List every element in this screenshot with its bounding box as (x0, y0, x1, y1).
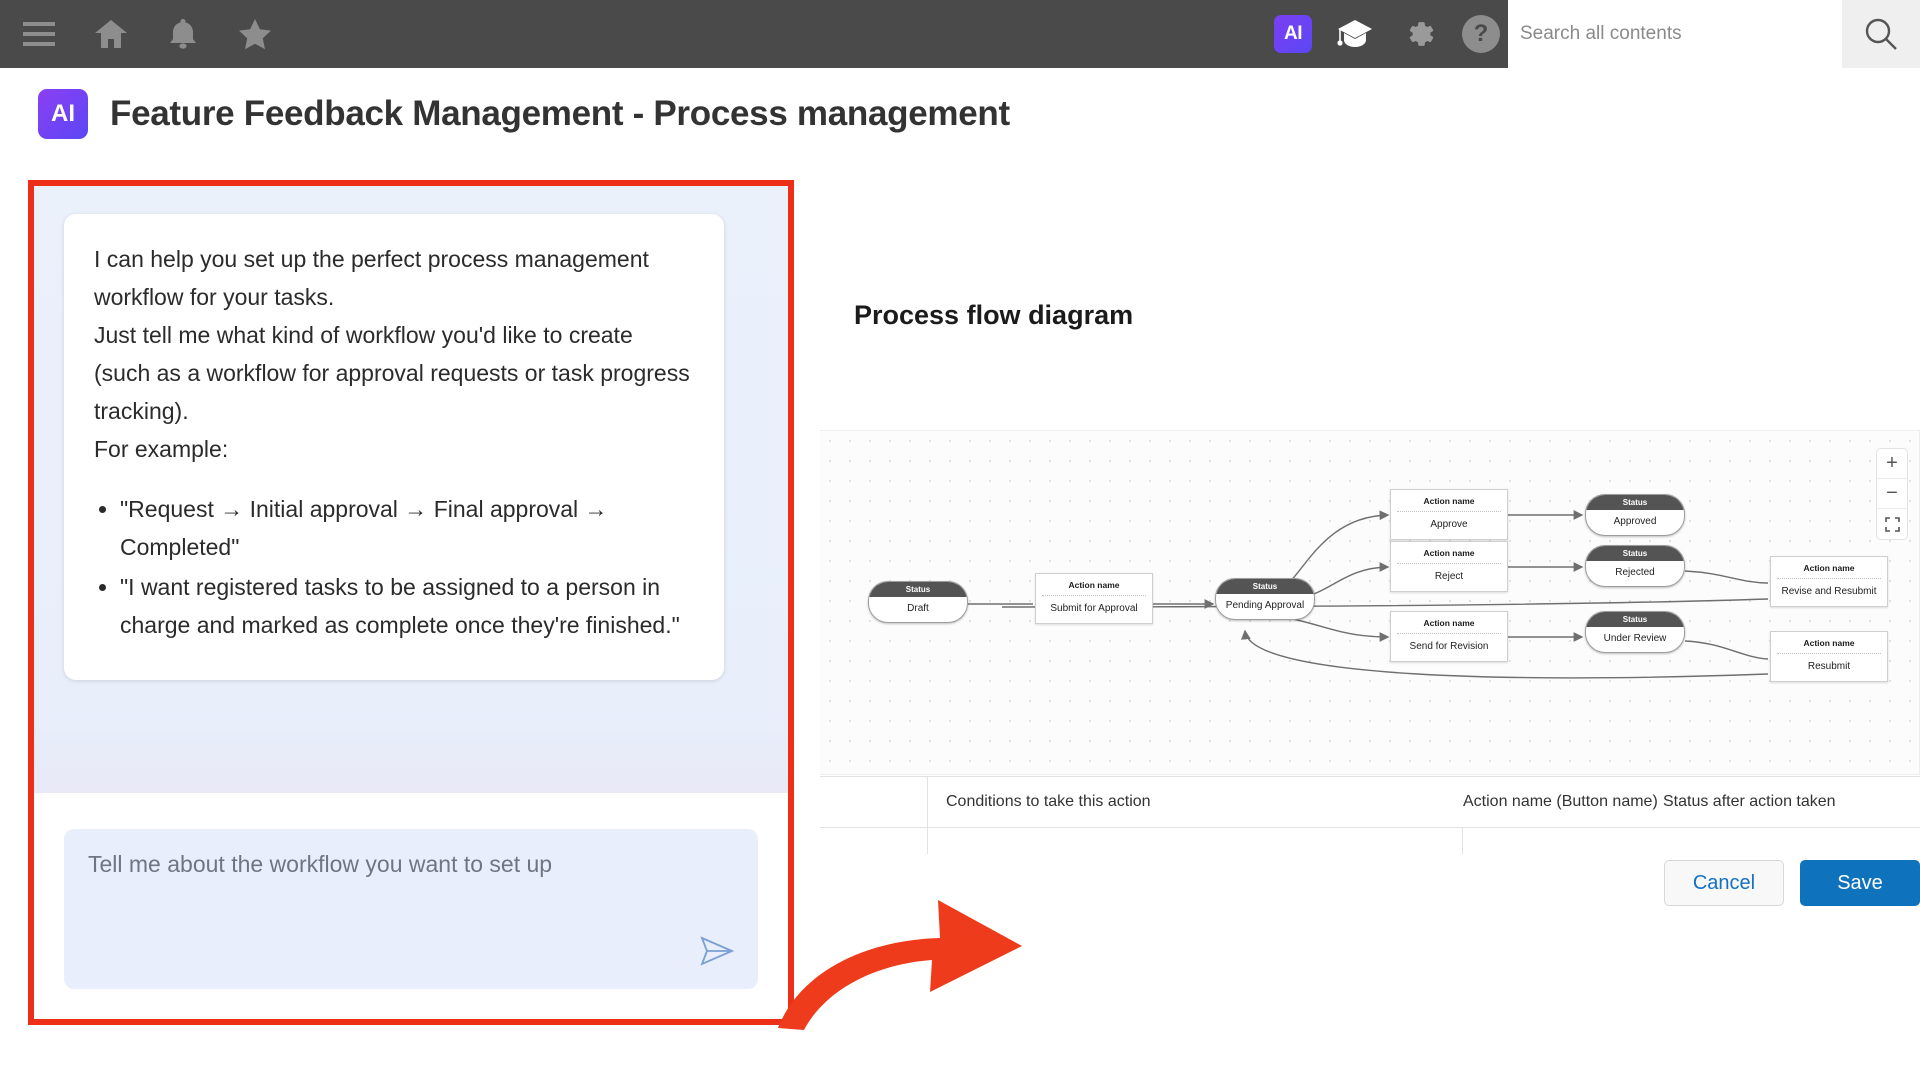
chat-input-box[interactable]: Tell me about the workflow you want to s… (64, 829, 758, 989)
table-cell-conditions (928, 828, 1463, 854)
node-header: Action name (1397, 542, 1501, 564)
page-title: Feature Feedback Management - Process ma… (110, 94, 1010, 134)
gear-icon[interactable] (1398, 13, 1440, 55)
node-label: Rejected (1586, 561, 1684, 586)
annotation-arrow-icon (770, 880, 1030, 1035)
diagram-title: Process flow diagram (854, 300, 1920, 331)
assistant-message-bubble: I can help you set up the perfect proces… (64, 214, 724, 680)
ai-chat-panel: I can help you set up the perfect proces… (28, 180, 794, 1025)
graduation-cap-icon[interactable] (1334, 13, 1376, 55)
star-icon[interactable] (234, 13, 276, 55)
message-paragraph-2: Just tell me what kind of workflow you'd… (94, 316, 694, 430)
status-node-pending-approval[interactable]: Status Pending Approval (1215, 578, 1315, 620)
node-header: Status (1216, 579, 1314, 594)
search-input[interactable] (1520, 23, 1830, 45)
table-col-conditions: Conditions to take this action (928, 793, 1463, 811)
list-item: "Request → Initial approval → Final appr… (120, 490, 694, 566)
table-header-row: Conditions to take this action Action na… (820, 776, 1920, 828)
node-label: Resubmit (1771, 654, 1887, 681)
node-label: Draft (869, 597, 967, 622)
message-example-list: "Request → Initial approval → Final appr… (120, 490, 694, 644)
top-navigation-bar: AI ? (0, 0, 1920, 68)
page-ai-badge-icon: AI (38, 89, 88, 139)
node-label: Revise and Resubmit (1771, 579, 1887, 606)
flow-connector-lines (820, 431, 1920, 775)
home-icon[interactable] (90, 13, 132, 55)
node-label: Approved (1586, 510, 1684, 535)
node-label: Reject (1391, 564, 1507, 591)
cancel-button[interactable]: Cancel (1664, 860, 1784, 906)
topbar-right-icons: AI ? (1274, 13, 1508, 55)
canvas-zoom-controls: + − (1877, 449, 1907, 539)
message-paragraph-1: I can help you set up the perfect proces… (94, 240, 694, 316)
action-node-reject[interactable]: Action name Reject (1390, 541, 1508, 592)
status-node-rejected[interactable]: Status Rejected (1585, 545, 1685, 587)
node-header: Status (1586, 546, 1684, 561)
process-flow-canvas[interactable]: Status Draft Action name Submit for Appr… (820, 430, 1920, 775)
table-col-status-after: Status after action taken (1663, 793, 1920, 811)
node-label: Submit for Approval (1036, 596, 1152, 623)
send-paper-plane-icon[interactable] (700, 936, 734, 971)
node-header: Action name (1397, 612, 1501, 634)
table-row[interactable] (820, 828, 1920, 854)
status-node-under-review[interactable]: Status Under Review (1585, 611, 1685, 653)
action-conditions-table: Conditions to take this action Action na… (820, 776, 1920, 854)
list-item: "I want registered tasks to be assigned … (120, 568, 694, 644)
node-label: Send for Revision (1391, 634, 1507, 661)
node-header: Status (1586, 612, 1684, 627)
node-header: Action name (1777, 632, 1881, 654)
table-cell-rest (1463, 828, 1920, 854)
bell-icon[interactable] (162, 13, 204, 55)
zoom-out-button[interactable]: − (1877, 479, 1907, 509)
page-header: AI Feature Feedback Management - Process… (0, 68, 1920, 160)
action-node-revise-and-resubmit[interactable]: Action name Revise and Resubmit (1770, 556, 1888, 607)
node-header: Status (869, 582, 967, 597)
table-col-action-name: Action name (Button name) (1463, 793, 1663, 811)
search-button[interactable] (1842, 0, 1920, 68)
node-header: Status (1586, 495, 1684, 510)
table-col-blank (820, 776, 928, 828)
node-header: Action name (1397, 490, 1501, 512)
page-badge-label: AI (51, 100, 75, 128)
action-node-submit-for-approval[interactable]: Action name Submit for Approval (1035, 573, 1153, 624)
topbar-left-icons (0, 13, 276, 55)
chat-message-area: I can help you set up the perfect proces… (34, 186, 788, 793)
search-container[interactable] (1508, 0, 1842, 68)
hamburger-menu-icon[interactable] (18, 13, 60, 55)
save-button[interactable]: Save (1800, 860, 1920, 906)
help-label: ? (1474, 20, 1489, 48)
status-node-approved[interactable]: Status Approved (1585, 494, 1685, 536)
search-icon (1864, 17, 1898, 51)
status-node-draft[interactable]: Status Draft (868, 581, 968, 623)
action-node-resubmit[interactable]: Action name Resubmit (1770, 631, 1888, 682)
node-label: Approve (1391, 512, 1507, 539)
action-node-send-for-revision[interactable]: Action name Send for Revision (1390, 611, 1508, 662)
action-node-approve[interactable]: Action name Approve (1390, 489, 1508, 540)
node-label: Pending Approval (1216, 594, 1314, 619)
node-header: Action name (1777, 557, 1881, 579)
help-icon[interactable]: ? (1462, 15, 1500, 53)
node-header: Action name (1042, 574, 1146, 596)
fit-screen-icon[interactable] (1877, 509, 1907, 539)
chat-input-area: Tell me about the workflow you want to s… (34, 793, 788, 1019)
table-cell-blank (820, 828, 928, 854)
zoom-in-button[interactable]: + (1877, 449, 1907, 479)
message-paragraph-3: For example: (94, 430, 694, 468)
chat-input-placeholder: Tell me about the workflow you want to s… (88, 851, 734, 878)
node-label: Under Review (1586, 627, 1684, 652)
ai-badge-icon[interactable]: AI (1274, 15, 1312, 53)
ai-badge-label: AI (1284, 23, 1302, 45)
